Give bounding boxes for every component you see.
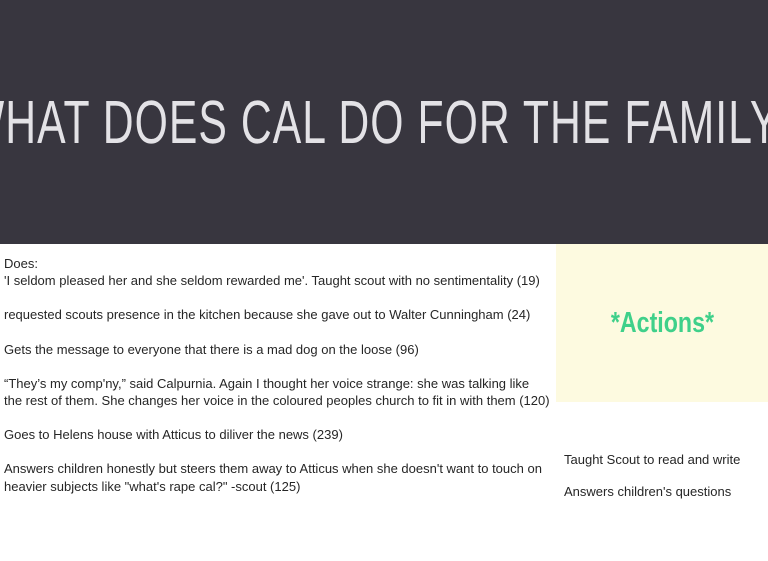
slide-header-band: WHAT DOES CAL DO FOR THE FAMILY? bbox=[0, 0, 768, 244]
slide-content-region: Does:'I seldom pleased her and she seldo… bbox=[0, 244, 768, 561]
body-paragraph: Does:'I seldom pleased her and she seldo… bbox=[4, 255, 550, 289]
actions-column: *Actions* Taught Scout to read and write… bbox=[556, 244, 768, 561]
slide-title: WHAT DOES CAL DO FOR THE FAMILY? bbox=[115, 0, 653, 244]
list-item: Answers children's questions bbox=[564, 484, 768, 500]
actions-list: Taught Scout to read and write Answers c… bbox=[564, 452, 768, 500]
body-paragraph: Goes to Helens house with Atticus to dil… bbox=[4, 426, 550, 443]
list-item: Taught Scout to read and write bbox=[564, 452, 768, 468]
body-paragraph: Gets the message to everyone that there … bbox=[4, 341, 550, 358]
body-paragraph: Answers children honestly but steers the… bbox=[4, 460, 550, 494]
actions-heading: *Actions* bbox=[610, 309, 713, 338]
actions-panel: *Actions* bbox=[556, 244, 768, 402]
body-paragraph: “They’s my comp'ny,” said Calpurnia. Aga… bbox=[4, 375, 550, 409]
body-paragraph: requested scouts presence in the kitchen… bbox=[4, 306, 550, 323]
body-text-column: Does:'I seldom pleased her and she seldo… bbox=[4, 255, 550, 495]
